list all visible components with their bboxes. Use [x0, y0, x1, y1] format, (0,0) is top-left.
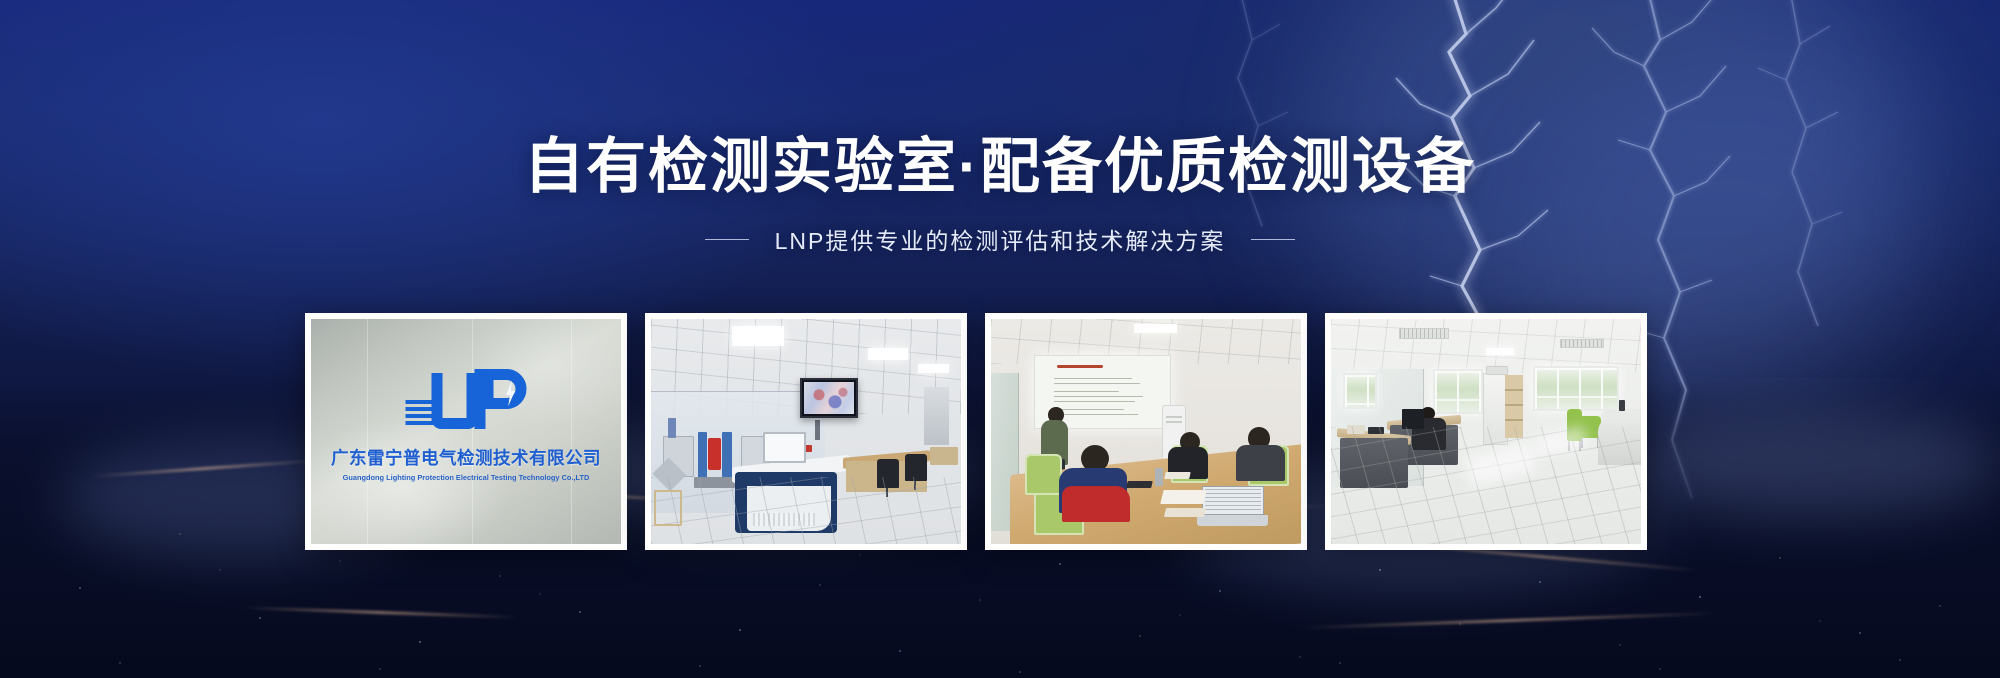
stool	[654, 490, 682, 526]
gallery-item-office-reception-area[interactable]	[1325, 313, 1647, 550]
slide-text-line	[1054, 409, 1124, 411]
laptop	[1202, 486, 1264, 527]
slide-text-line	[1054, 391, 1119, 393]
slide-title-line	[1057, 365, 1103, 368]
wall-pane-line	[367, 319, 368, 544]
paper-documents	[1163, 508, 1206, 517]
test-equipment-column	[698, 432, 707, 482]
paper-documents	[1164, 472, 1190, 479]
ceiling-vent	[1560, 339, 1603, 348]
counter-item	[1619, 400, 1625, 411]
ceiling-vent	[1399, 328, 1449, 339]
wall-ac-unit	[1486, 366, 1508, 375]
attendee-body	[1236, 445, 1286, 481]
gallery-item-training-meeting-room[interactable]	[985, 313, 1307, 550]
side-table	[930, 447, 958, 465]
wall-pane-line	[571, 319, 572, 544]
lightning-flash-icon	[505, 381, 517, 407]
lab-floor	[651, 477, 961, 545]
gallery-item-testing-laboratory[interactable]	[645, 313, 967, 550]
logo-bars-icon	[406, 400, 434, 429]
tv-mount-arm	[815, 420, 820, 440]
laptop-keyboard	[1197, 515, 1268, 526]
notebook	[1127, 481, 1153, 488]
office-floor	[1331, 427, 1641, 544]
test-equipment-column	[668, 418, 676, 438]
hero-banner: 自有检测实验室·配备优质检测设备 LNP提供专业的检测评估和技术解决方案	[0, 0, 2000, 678]
logo-letter-n	[432, 373, 478, 429]
paper-documents	[1160, 490, 1207, 504]
wall-sheen	[311, 319, 621, 544]
test-equipment-column	[722, 432, 731, 482]
subtitle-row: LNP提供专业的检测评估和技术解决方案	[0, 222, 2000, 256]
office-window	[1533, 366, 1620, 411]
photo-company-signboard: 广东雷宁普电气检测技术有限公司 Guangdong Lighting Prote…	[311, 319, 621, 544]
photo-training-meeting-room	[991, 319, 1301, 544]
gallery-strip: 广东雷宁普电气检测技术有限公司 Guangdong Lighting Prote…	[305, 313, 1647, 550]
dash-left-icon	[705, 239, 749, 240]
ceiling-light	[1134, 324, 1177, 333]
ceiling-light	[868, 348, 908, 359]
signboard-company-name-en: Guangdong Lighting Protection Electrical…	[311, 473, 621, 482]
slide-text-line	[1054, 378, 1132, 380]
attendee-jacket	[1062, 486, 1130, 522]
wall-monitor	[800, 378, 858, 418]
page-subtitle: LNP提供专业的检测评估和技术解决方案	[775, 222, 1226, 256]
thermos-cup	[1155, 468, 1163, 486]
office-window	[1343, 373, 1377, 409]
ceiling-light	[1486, 348, 1514, 355]
slide-text-line	[1054, 401, 1135, 403]
dash-right-icon	[1251, 239, 1295, 240]
ceiling-light	[732, 326, 785, 346]
laptop-screen	[1202, 486, 1264, 515]
ceiling-light	[918, 364, 949, 373]
wall-pane-line	[472, 319, 473, 544]
slide-text-line	[1054, 414, 1137, 416]
monitor-screen-content	[804, 382, 854, 414]
test-equipment-red	[708, 438, 720, 470]
page-title: 自有检测实验室·配备优质检测设备	[0, 132, 2000, 201]
logo-letter-p	[475, 369, 527, 429]
photo-testing-laboratory	[651, 319, 961, 544]
signboard-company-name-cn: 广东雷宁普电气检测技术有限公司	[311, 445, 621, 470]
slide-text-line	[1054, 383, 1140, 385]
cabinet	[924, 387, 949, 446]
office-window	[1433, 369, 1483, 414]
gallery-item-company-signboard[interactable]: 广东雷宁普电气检测技术有限公司 Guangdong Lighting Prote…	[305, 313, 627, 550]
slide-text-line	[1054, 396, 1143, 398]
photo-office-reception-area	[1331, 319, 1641, 544]
console-monitor	[763, 432, 806, 464]
meeting-chair	[1025, 454, 1062, 495]
lnp-logo-icon	[406, 369, 527, 429]
